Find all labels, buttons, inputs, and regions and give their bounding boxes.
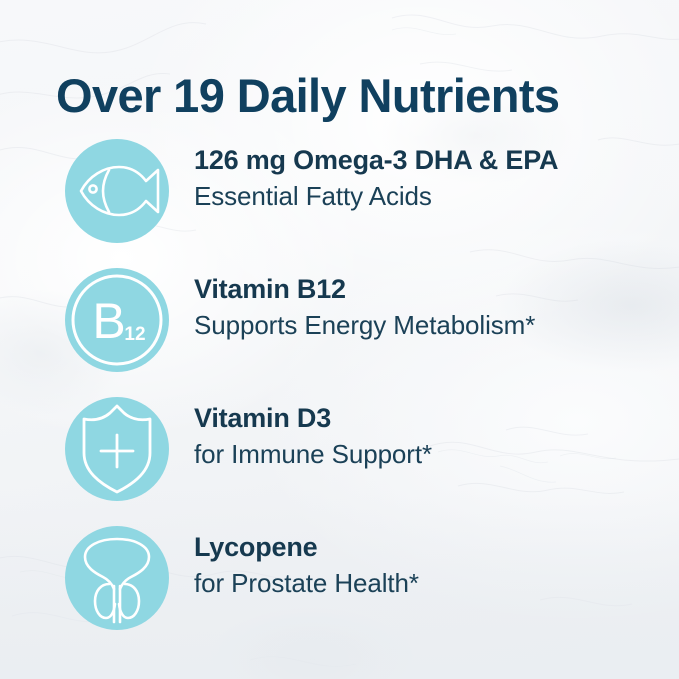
shield-plus-icon bbox=[65, 397, 169, 501]
list-item-title: Vitamin D3 bbox=[194, 403, 664, 435]
prostate-icon bbox=[65, 526, 169, 630]
fish-icon bbox=[65, 139, 169, 243]
list-item-text: Vitamin D3 for Immune Support* bbox=[194, 403, 664, 470]
b12-letter-glyph: B bbox=[92, 293, 125, 349]
nutrient-list: 126 mg Omega-3 DHA & EPA Essential Fatty… bbox=[0, 133, 679, 649]
list-item-subtitle: for Prostate Health* bbox=[194, 568, 664, 599]
b12-subscript-glyph: 12 bbox=[124, 324, 145, 345]
list-item: Vitamin D3 for Immune Support* bbox=[0, 391, 679, 520]
list-item-title: Vitamin B12 bbox=[194, 274, 664, 306]
list-item-title: 126 mg Omega-3 DHA & EPA bbox=[194, 145, 664, 177]
list-item-text: Vitamin B12 Supports Energy Metabolism* bbox=[194, 274, 664, 341]
list-item-text: Lycopene for Prostate Health* bbox=[194, 532, 664, 599]
list-item-title: Lycopene bbox=[194, 532, 664, 564]
list-item-subtitle: Essential Fatty Acids bbox=[194, 181, 664, 212]
nutrient-infographic: Over 19 Daily Nutrients 126 mg Omega bbox=[0, 0, 679, 679]
list-item-text: 126 mg Omega-3 DHA & EPA Essential Fatty… bbox=[194, 145, 664, 212]
list-item-subtitle: Supports Energy Metabolism* bbox=[194, 310, 664, 341]
vitamin-b12-icon: B 12 bbox=[65, 268, 169, 372]
list-item: B 12 Vitamin B12 Supports Energy Metabol… bbox=[0, 262, 679, 391]
list-item: 126 mg Omega-3 DHA & EPA Essential Fatty… bbox=[0, 133, 679, 262]
list-item-subtitle: for Immune Support* bbox=[194, 439, 664, 470]
list-item: Lycopene for Prostate Health* bbox=[0, 520, 679, 649]
page-title: Over 19 Daily Nutrients bbox=[56, 71, 656, 122]
